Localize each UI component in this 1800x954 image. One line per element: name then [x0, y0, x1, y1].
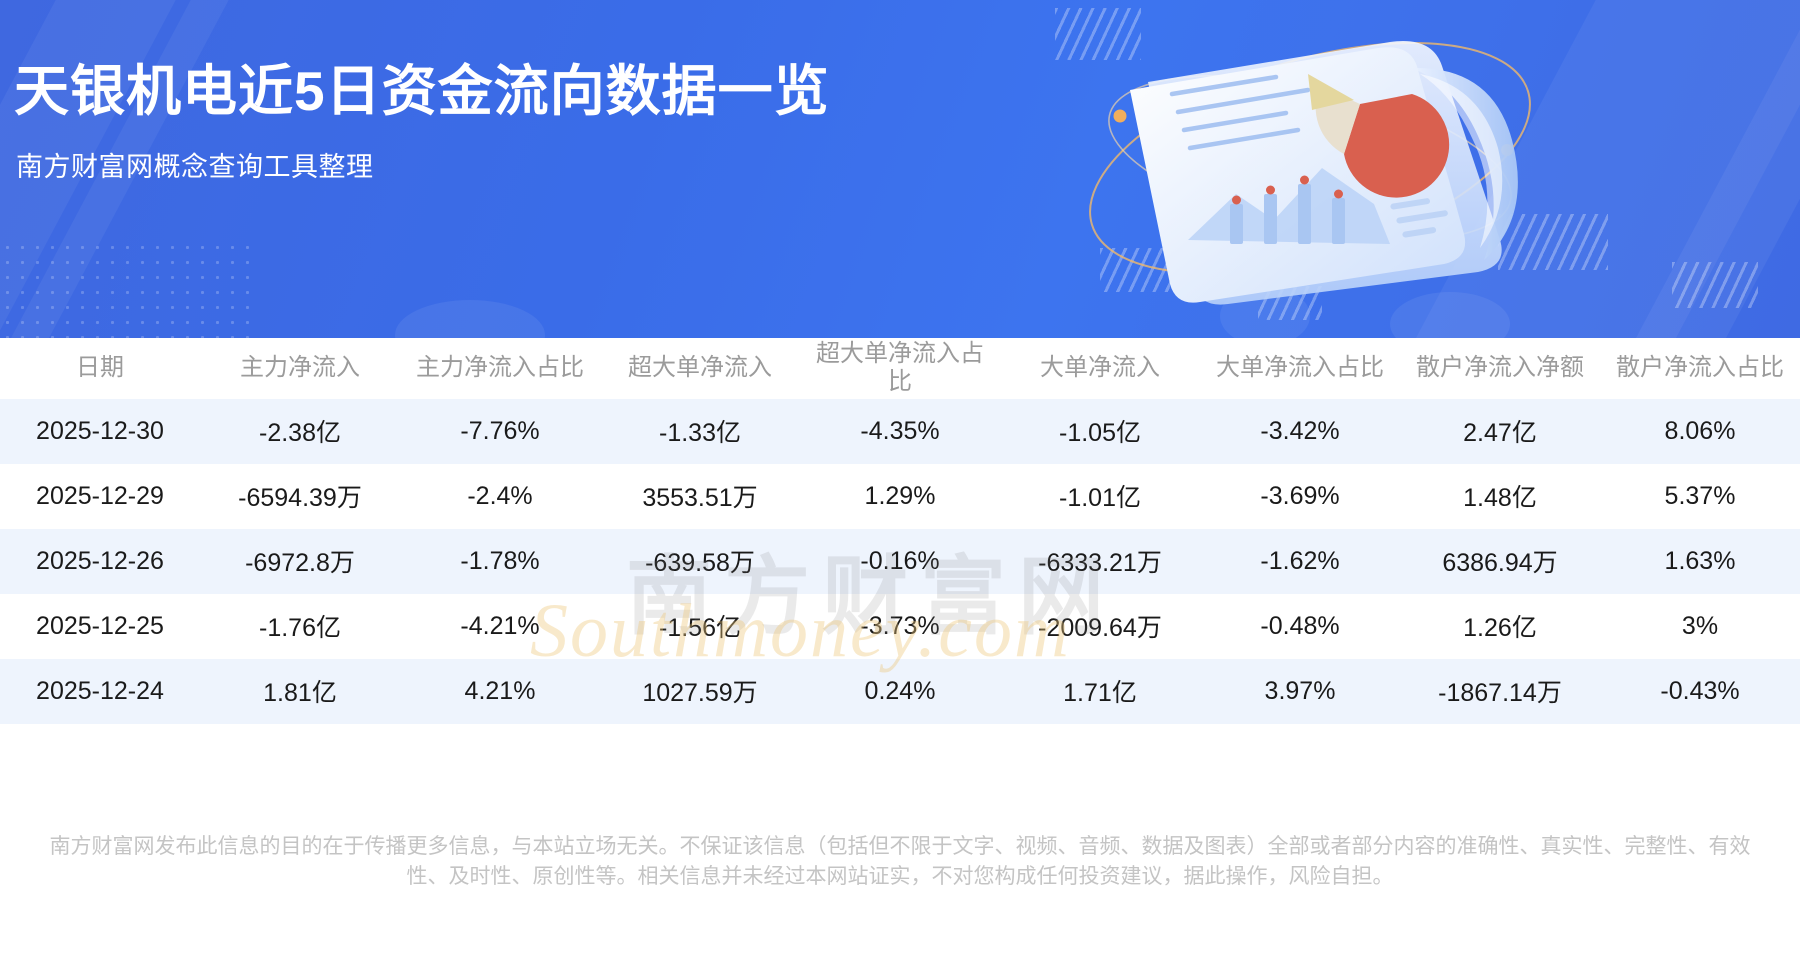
column-header-main-pct: 主力净流入占比	[400, 338, 600, 399]
cell-large-pct: -3.42%	[1200, 399, 1400, 464]
banner-blob-decor	[395, 300, 545, 338]
cell-large-net: -1.05亿	[1000, 399, 1200, 464]
table-row: 2025-12-25 -1.76亿 -4.21% -1.56亿 -3.73% -…	[0, 594, 1800, 659]
cell-large-pct: -0.48%	[1200, 594, 1400, 659]
cell-large-net: -2009.64万	[1000, 594, 1200, 659]
cell-large-net: -6333.21万	[1000, 529, 1200, 594]
cell-main-pct: 4.21%	[400, 659, 600, 724]
cell-xlarge-pct: 0.24%	[800, 659, 1000, 724]
table-row: 2025-12-24 1.81亿 4.21% 1027.59万 0.24% 1.…	[0, 659, 1800, 724]
column-header-retail-pct: 散户净流入占比	[1600, 338, 1800, 399]
cell-retail-net: 1.48亿	[1400, 464, 1600, 529]
cell-main-pct: -4.21%	[400, 594, 600, 659]
page-title: 天银机电近5日资金流向数据一览	[14, 46, 830, 126]
report-newspaper-chart-illustration	[1060, 8, 1580, 298]
cell-main-pct: -7.76%	[400, 399, 600, 464]
cell-retail-pct: 5.37%	[1600, 464, 1800, 529]
column-header-xlarge-net: 超大单净流入	[600, 338, 800, 399]
column-header-large-net: 大单净流入	[1000, 338, 1200, 399]
cell-date: 2025-12-30	[0, 399, 200, 464]
fund-flow-table: 日期 主力净流入 主力净流入占比 超大单净流入 超大单净流入占比 大单净流入 大…	[0, 338, 1800, 724]
column-header-main-net: 主力净流入	[200, 338, 400, 399]
table-body: 2025-12-30 -2.38亿 -7.76% -1.33亿 -4.35% -…	[0, 399, 1800, 724]
cell-xlarge-net: -639.58万	[600, 529, 800, 594]
table-header: 日期 主力净流入 主力净流入占比 超大单净流入 超大单净流入占比 大单净流入 大…	[0, 338, 1800, 399]
banner-blob-decor	[1390, 292, 1510, 338]
cell-retail-net: 2.47亿	[1400, 399, 1600, 464]
page-banner: 天银机电近5日资金流向数据一览 南方财富网概念查询工具整理	[0, 0, 1800, 338]
banner-streak-decor	[1582, 0, 1800, 338]
cell-retail-pct: 8.06%	[1600, 399, 1800, 464]
column-header-retail-net: 散户净流入净额	[1400, 338, 1600, 399]
cell-xlarge-pct: 1.29%	[800, 464, 1000, 529]
cell-main-pct: -2.4%	[400, 464, 600, 529]
fund-flow-table-container: 日期 主力净流入 主力净流入占比 超大单净流入 超大单净流入占比 大单净流入 大…	[0, 338, 1800, 724]
table-header-row: 日期 主力净流入 主力净流入占比 超大单净流入 超大单净流入占比 大单净流入 大…	[0, 338, 1800, 399]
cell-xlarge-pct: -4.35%	[800, 399, 1000, 464]
column-header-date: 日期	[0, 338, 200, 399]
cell-main-net: 1.81亿	[200, 659, 400, 724]
cell-large-pct: -1.62%	[1200, 529, 1400, 594]
cell-large-pct: -3.69%	[1200, 464, 1400, 529]
cell-main-net: -2.38亿	[200, 399, 400, 464]
page-subtitle: 南方财富网概念查询工具整理	[16, 145, 374, 184]
column-header-xlarge-pct: 超大单净流入占比	[800, 338, 1000, 399]
cell-xlarge-pct: -0.16%	[800, 529, 1000, 594]
disclaimer-footer: 南方财富网发布此信息的目的在于传播更多信息，与本站立场无关。不保证该信息（包括但…	[0, 832, 1800, 893]
disclaimer-line-2: 性、及时性、原创性等。相关信息并未经过本网站证实，不对您构成任何投资建议，据此操…	[6, 862, 1794, 892]
cell-xlarge-pct: -3.73%	[800, 594, 1000, 659]
cell-main-net: -6594.39万	[200, 464, 400, 529]
cell-xlarge-net: -1.33亿	[600, 399, 800, 464]
cell-date: 2025-12-29	[0, 464, 200, 529]
cell-retail-net: -1867.14万	[1400, 659, 1600, 724]
column-header-large-pct: 大单净流入占比	[1200, 338, 1400, 399]
cell-large-net: 1.71亿	[1000, 659, 1200, 724]
cell-main-pct: -1.78%	[400, 529, 600, 594]
cell-retail-pct: 3%	[1600, 594, 1800, 659]
cell-large-net: -1.01亿	[1000, 464, 1200, 529]
banner-dot-grid-decor	[0, 240, 260, 338]
cell-date: 2025-12-25	[0, 594, 200, 659]
banner-hatch-decor	[1672, 262, 1758, 308]
table-row: 2025-12-26 -6972.8万 -1.78% -639.58万 -0.1…	[0, 529, 1800, 594]
table-row: 2025-12-30 -2.38亿 -7.76% -1.33亿 -4.35% -…	[0, 399, 1800, 464]
cell-xlarge-net: -1.56亿	[600, 594, 800, 659]
disclaimer-line-1: 南方财富网发布此信息的目的在于传播更多信息，与本站立场无关。不保证该信息（包括但…	[6, 832, 1794, 862]
table-row: 2025-12-29 -6594.39万 -2.4% 3553.51万 1.29…	[0, 464, 1800, 529]
cell-retail-pct: 1.63%	[1600, 529, 1800, 594]
cell-date: 2025-12-26	[0, 529, 200, 594]
cell-date: 2025-12-24	[0, 659, 200, 724]
cell-large-pct: 3.97%	[1200, 659, 1400, 724]
cell-main-net: -6972.8万	[200, 529, 400, 594]
cell-main-net: -1.76亿	[200, 594, 400, 659]
cell-retail-net: 1.26亿	[1400, 594, 1600, 659]
cell-retail-pct: -0.43%	[1600, 659, 1800, 724]
cell-retail-net: 6386.94万	[1400, 529, 1600, 594]
cell-xlarge-net: 3553.51万	[600, 464, 800, 529]
cell-xlarge-net: 1027.59万	[600, 659, 800, 724]
